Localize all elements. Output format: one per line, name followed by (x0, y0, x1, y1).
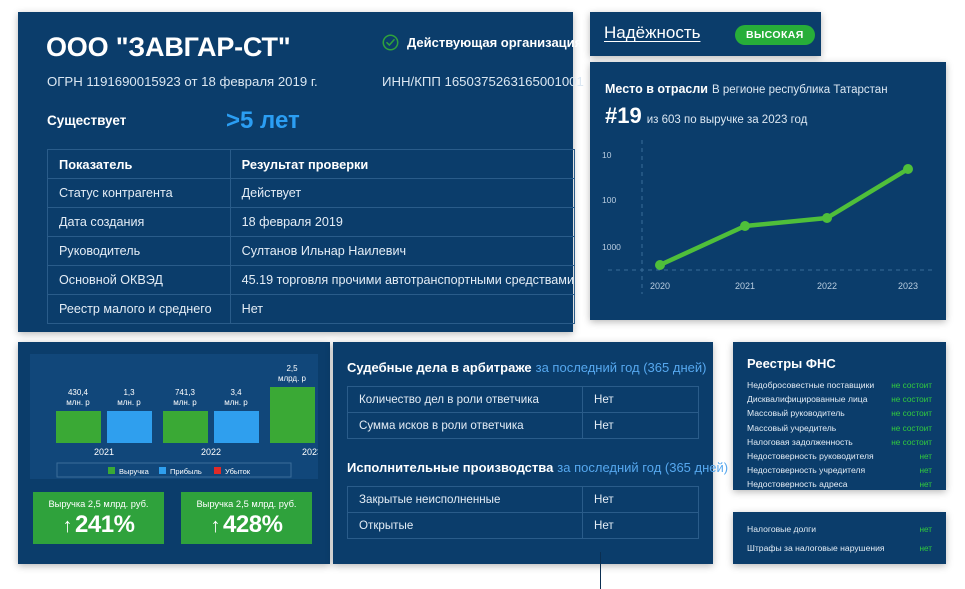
item-label: Налоговая задолженность (747, 437, 853, 447)
revenue-bar-chart: 430,4 млн. р 1,3 млн. р 2021 741,3 млн. … (30, 354, 318, 479)
revenue-growth-value-2: ↑428% (181, 511, 312, 539)
row-key: Сумма исков в роли ответчика (348, 413, 583, 439)
row-value: 18 февраля 2019 (230, 208, 574, 237)
company-ogrn: ОГРН 1191690015923 от 18 февраля 2019 г. (47, 74, 318, 89)
row-value: Действует (230, 179, 574, 208)
item-label: Массовый учредитель (747, 423, 836, 433)
list-item: Недобросовестные поставщики не состоит (747, 380, 932, 394)
table-row: Основной ОКВЭД 45.19 торговля прочими ав… (48, 266, 575, 295)
row-key: Реестр малого и среднего (48, 295, 231, 324)
item-label: Дисквалифицированные лица (747, 394, 868, 404)
row-value: Султанов Ильнар Наилевич (230, 237, 574, 266)
rank-region: В регионе республика Татарстан (712, 84, 888, 96)
rank-title: Место в отраслиВ регионе республика Тата… (605, 82, 888, 96)
table-header-indicator: Показатель (48, 150, 231, 179)
reliability-card: Надёжность ВЫСОКАЯ (590, 12, 821, 56)
row-key: Закрытые неисполненные (348, 487, 583, 513)
item-label: Недобросовестные поставщики (747, 380, 874, 390)
finance-card: 430,4 млн. р 1,3 млн. р 2021 741,3 млн. … (18, 342, 330, 564)
row-key: Статус контрагента (48, 179, 231, 208)
exists-label: Существует (47, 113, 126, 128)
legal-card: Судебные дела в арбитражеза последний го… (333, 342, 713, 564)
exists-value: >5 лет (226, 107, 300, 135)
list-item: Штрафы за налоговые нарушения нет (747, 543, 932, 562)
row-key: Руководитель (48, 237, 231, 266)
svg-text:1,3: 1,3 (123, 388, 135, 397)
enforcement-title: Исполнительные производстваза последний … (347, 460, 728, 475)
list-item: Недостоверность адреса нет (747, 479, 932, 493)
company-card: ООО "ЗАВГАР-СТ" ОГРН 1191690015923 от 18… (18, 12, 573, 332)
table-header-result: Результат проверки (230, 150, 574, 179)
arbitration-title-text: Судебные дела в арбитраже (347, 360, 532, 375)
arbitration-period: за последний год (365 дней) (536, 360, 707, 375)
row-value: Нет (583, 413, 699, 439)
svg-text:млн. р: млн. р (224, 398, 248, 407)
rank-line-chart: 10 100 1000 2020 2021 2022 2023 (590, 134, 946, 320)
list-item: Массовый учредитель не состоит (747, 423, 932, 437)
item-value: нет (919, 480, 932, 489)
svg-text:млрд. р: млрд. р (278, 374, 307, 383)
revenue-growth-caption-1: Выручка 2,5 млрд. руб. (33, 499, 164, 509)
enforcement-period: за последний год (365 дней) (557, 460, 728, 475)
company-name: ООО "ЗАВГАР-СТ" (46, 32, 290, 63)
item-label: Недостоверность адреса (747, 479, 848, 489)
svg-text:430,4: 430,4 (68, 388, 89, 397)
revenue-growth-box-2: Выручка 2,5 млрд. руб. ↑428% (181, 492, 312, 544)
revenue-growth-pct-2: 428% (223, 511, 282, 538)
item-value: не состоит (891, 409, 932, 418)
item-value: не состоит (891, 424, 932, 433)
item-value: не состоит (891, 395, 932, 404)
table-row: Руководитель Султанов Ильнар Наилевич (48, 237, 575, 266)
svg-text:2021: 2021 (94, 447, 114, 457)
svg-text:млн. р: млн. р (117, 398, 141, 407)
item-value: не состоит (891, 438, 932, 447)
reliability-level-badge: ВЫСОКАЯ (735, 25, 815, 45)
status-badge: Действующая организация (382, 34, 582, 51)
svg-text:2,5: 2,5 (286, 364, 298, 373)
row-value: Нет (583, 513, 699, 539)
tax-card: Налоговые долги нет Штрафы за налоговые … (733, 512, 946, 564)
table-row: Дата создания 18 февраля 2019 (48, 208, 575, 237)
svg-text:2023: 2023 (898, 281, 918, 291)
table-row: Открытые Нет (348, 513, 699, 539)
svg-text:млн. р: млн. р (173, 398, 197, 407)
row-key: Основной ОКВЭД (48, 266, 231, 295)
item-label: Недостоверность учредителя (747, 465, 865, 475)
revenue-bar-chart-container: 430,4 млн. р 1,3 млн. р 2021 741,3 млн. … (30, 354, 318, 479)
arbitration-table: Количество дел в роли ответчика Нет Сумм… (347, 386, 699, 439)
company-inn-kpp: ИНН/КПП 1650375263165001001 (382, 74, 584, 89)
item-label: Массовый руководитель (747, 408, 845, 418)
row-value: Нет (230, 295, 574, 324)
panel-divider (600, 552, 601, 589)
item-value: нет (919, 466, 932, 475)
item-value: нет (919, 544, 932, 553)
item-value: нет (919, 452, 932, 461)
item-label: Налоговые долги (747, 524, 816, 534)
fns-registries-card: Реестры ФНС Недобросовестные поставщики … (733, 342, 946, 490)
row-key: Дата создания (48, 208, 231, 237)
row-value: 45.19 торговля прочими автотранспортными… (230, 266, 574, 295)
row-value: Нет (583, 487, 699, 513)
svg-text:100: 100 (602, 195, 616, 205)
rank-place-sub: из 603 по выручке за 2023 год (647, 114, 808, 126)
enforcement-table: Закрытые неисполненные Нет Открытые Нет (347, 486, 699, 539)
svg-text:2021: 2021 (735, 281, 755, 291)
arrow-up-icon: ↑ (211, 515, 221, 537)
arbitration-title: Судебные дела в арбитражеза последний го… (347, 360, 706, 375)
row-value: Нет (583, 387, 699, 413)
table-header-row: Показатель Результат проверки (48, 150, 575, 179)
list-item: Дисквалифицированные лица не состоит (747, 394, 932, 408)
table-row: Сумма исков в роли ответчика Нет (348, 413, 699, 439)
enforcement-title-text: Исполнительные производства (347, 460, 553, 475)
list-item: Недостоверность учредителя нет (747, 465, 932, 479)
svg-text:2023: 2023 (302, 447, 318, 457)
svg-text:741,3: 741,3 (175, 388, 196, 397)
fns-list: Недобросовестные поставщики не состоит Д… (747, 380, 932, 494)
table-row: Статус контрагента Действует (48, 179, 575, 208)
list-item: Недостоверность руководителя нет (747, 451, 932, 465)
svg-text:2022: 2022 (817, 281, 837, 291)
svg-text:2020: 2020 (650, 281, 670, 291)
tax-list: Налоговые долги нет Штрафы за налоговые … (747, 524, 932, 562)
rank-place-number: #19 (605, 103, 642, 128)
row-key: Открытые (348, 513, 583, 539)
check-circle-icon (382, 34, 399, 51)
industry-rank-card: Место в отраслиВ регионе республика Тата… (590, 62, 946, 320)
svg-text:Прибыль: Прибыль (170, 467, 202, 476)
table-row: Количество дел в роли ответчика Нет (348, 387, 699, 413)
revenue-growth-box-1: Выручка 2,5 млрд. руб. ↑241% (33, 492, 164, 544)
table-row: Реестр малого и среднего Нет (48, 295, 575, 324)
revenue-growth-caption-2: Выручка 2,5 млрд. руб. (181, 499, 312, 509)
fns-title: Реестры ФНС (747, 356, 836, 371)
status-badge-label: Действующая организация (407, 35, 582, 50)
svg-text:Убыток: Убыток (225, 467, 251, 476)
company-check-table: Показатель Результат проверки Статус кон… (47, 149, 575, 324)
revenue-growth-value-1: ↑241% (33, 511, 164, 539)
reliability-title[interactable]: Надёжность (604, 23, 700, 43)
svg-text:2022: 2022 (201, 447, 221, 457)
list-item: Налоговые долги нет (747, 524, 932, 543)
item-value: не состоит (891, 381, 932, 390)
row-key: Количество дел в роли ответчика (348, 387, 583, 413)
list-item: Налоговая задолженность не состоит (747, 437, 932, 451)
svg-text:3,4: 3,4 (230, 388, 242, 397)
svg-text:1000: 1000 (602, 242, 621, 252)
rank-place: #19из 603 по выручке за 2023 год (605, 103, 807, 129)
svg-text:10: 10 (602, 150, 612, 160)
svg-text:млн. р: млн. р (66, 398, 90, 407)
list-item: Массовый руководитель не состоит (747, 408, 932, 422)
item-label: Недостоверность руководителя (747, 451, 874, 461)
rank-title-text: Место в отрасли (605, 82, 708, 96)
revenue-growth-pct-1: 241% (75, 511, 134, 538)
item-label: Штрафы за налоговые нарушения (747, 543, 885, 553)
item-value: нет (919, 525, 932, 534)
svg-text:Выручка: Выручка (119, 467, 150, 476)
table-row: Закрытые неисполненные Нет (348, 487, 699, 513)
arrow-up-icon: ↑ (63, 515, 73, 537)
